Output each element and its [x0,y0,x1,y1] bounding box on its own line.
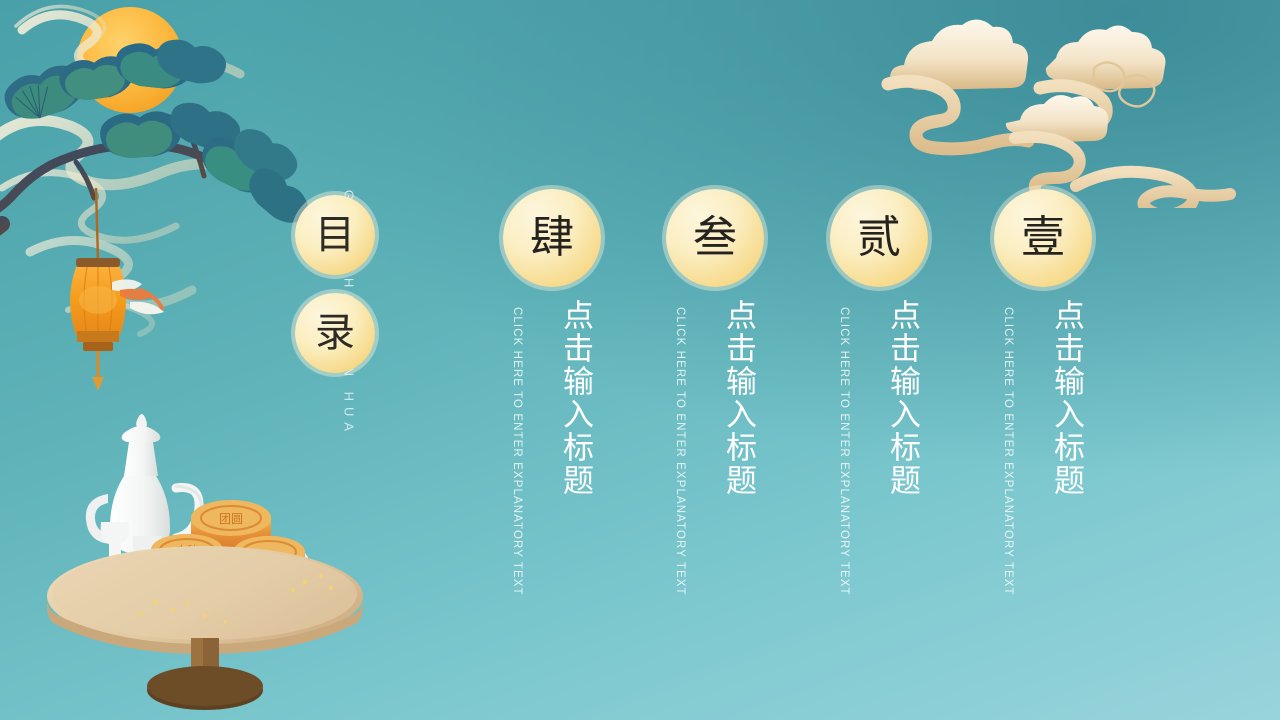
toc-item-4[interactable]: 肆 点击输入标题 CLICK HERE TO ENTER EXPLANATORY… [503,189,601,629]
toc-item-1-numeral: 壹 [1021,216,1065,260]
toc-item-2[interactable]: 贰 点击输入标题 CLICK HERE TO ENTER EXPLANATORY… [830,189,928,629]
auspicious-clouds-icon [880,8,1280,208]
toc-item-3-text: 点击输入标题 CLICK HERE TO ENTER EXPLANATORY T… [666,299,764,629]
toc-item-4-numeral-circle[interactable]: 肆 [503,189,601,287]
toc-char-circle-1: 目 [295,195,375,275]
toc-item-3-subtitle[interactable]: CLICK HERE TO ENTER EXPLANATORY TEXT [674,307,686,596]
toc-item-3[interactable]: 叁 点击输入标题 CLICK HERE TO ENTER EXPLANATORY… [666,189,764,629]
toc-item-4-subtitle[interactable]: CLICK HERE TO ENTER EXPLANATORY TEXT [511,307,523,596]
toc-item-1-subtitle[interactable]: CLICK HERE TO ENTER EXPLANATORY TEXT [1002,307,1014,596]
toc-item-1[interactable]: 壹 点击输入标题 CLICK HERE TO ENTER EXPLANATORY… [994,189,1092,629]
toc-char-1: 目 [315,215,355,255]
toc-item-2-title[interactable]: 点击输入标题 [876,299,920,497]
svg-text:团圆: 团圆 [219,512,243,526]
toc-item-2-text: 点击输入标题 CLICK HERE TO ENTER EXPLANATORY T… [830,299,928,629]
toc-char-circle-2: 录 [295,293,375,373]
toc-item-1-title[interactable]: 点击输入标题 [1040,299,1084,497]
toc-item-1-numeral-circle[interactable]: 壹 [994,189,1092,287]
toc-char-2: 录 [315,313,355,353]
toc-item-4-numeral: 肆 [530,216,574,260]
toc-title-block: GUOC CHAO WEN HUA 目 录 [246,186,386,486]
toc-item-2-numeral: 贰 [857,216,901,260]
slide-canvas: 团圆 中秋 [0,0,1280,720]
toc-item-1-text: 点击输入标题 CLICK HERE TO ENTER EXPLANATORY T… [994,299,1092,629]
toc-item-4-title[interactable]: 点击输入标题 [549,299,593,497]
toc-item-3-title[interactable]: 点击输入标题 [712,299,756,497]
toc-item-2-subtitle[interactable]: CLICK HERE TO ENTER EXPLANATORY TEXT [838,307,850,596]
toc-item-3-numeral: 叁 [693,216,737,260]
svg-text:中秋: 中秋 [176,543,198,557]
toc-item-3-numeral-circle[interactable]: 叁 [666,189,764,287]
toc-item-4-text: 点击输入标题 CLICK HERE TO ENTER EXPLANATORY T… [503,299,601,629]
toc-item-2-numeral-circle[interactable]: 贰 [830,189,928,287]
